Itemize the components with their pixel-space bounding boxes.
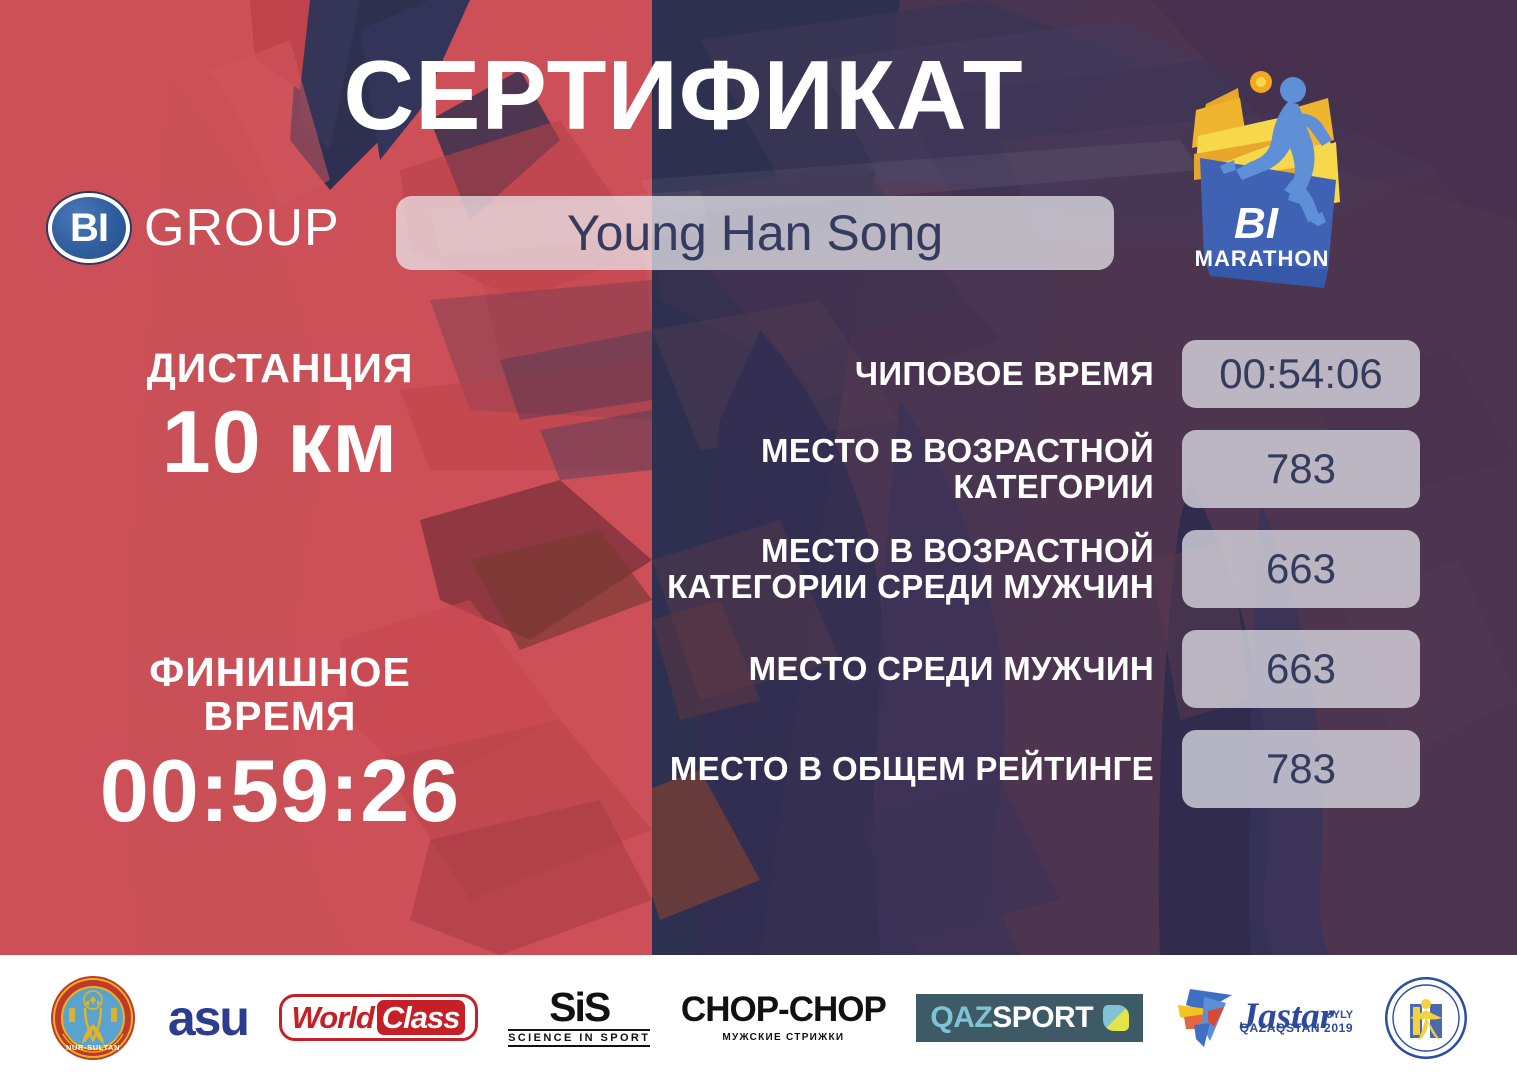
stat-row: МЕСТО В ВОЗРАСТНОЙ КАТЕГОРИИ СРЕДИ МУЖЧИ… — [560, 530, 1420, 608]
stat-value: 783 — [1182, 430, 1420, 508]
stat-row: МЕСТО В ОБЩЕМ РЕЙТИНГЕ 783 — [560, 730, 1420, 808]
participant-name: Young Han Song — [567, 208, 943, 258]
qazsport-word1: QAZ — [930, 1001, 992, 1034]
stat-value: 663 — [1182, 530, 1420, 608]
asu-logo: asu — [168, 993, 248, 1043]
sis-logo: SiS SCIENCE IN SPORT — [508, 988, 650, 1047]
ministry-sport-emblem-logo — [1384, 976, 1468, 1060]
stat-label: ЧИПОВОЕ ВРЕМЯ — [560, 356, 1182, 392]
distance-label: ДИСТАНЦИЯ — [0, 346, 560, 390]
qazsport-word2: SPORT — [992, 1001, 1093, 1034]
qazsport-logo: QAZSPORT — [916, 994, 1143, 1042]
jastar-jyly-logo: Jastar JYLY QAZAQSTAN 2019 — [1174, 983, 1354, 1053]
certificate-canvas: СЕРТИФИКАТ BI GROUP Young Han Song — [0, 0, 1517, 1080]
stat-value: 663 — [1182, 630, 1420, 708]
world-class-word2: Class — [377, 1000, 465, 1035]
stat-row: МЕСТО СРЕДИ МУЖЧИН 663 — [560, 630, 1420, 708]
stat-label: МЕСТО СРЕДИ МУЖЧИН — [560, 651, 1182, 687]
participant-name-field: Young Han Song — [396, 196, 1114, 270]
sponsor-bar: NUR-SULTAN asu World Class SiS SCIENCE I… — [0, 955, 1517, 1080]
jastar-subtitle: QAZAQSTAN 2019 — [1240, 1021, 1354, 1035]
stats-list: ЧИПОВОЕ ВРЕМЯ 00:54:06 МЕСТО В ВОЗРАСТНО… — [560, 340, 1420, 830]
jastar-jyly-label: JYLY — [1327, 1009, 1354, 1021]
chop-chop-tagline: МУЖСКИЕ СТРИЖКИ — [722, 1032, 844, 1043]
world-class-logo: World Class — [279, 994, 478, 1041]
svg-text:MARATHON: MARATHON — [1195, 246, 1330, 271]
chop-chop-wordmark: CHOP-CHOP — [681, 992, 886, 1027]
bi-group-label: GROUP — [144, 202, 340, 254]
nur-sultan-emblem-logo: NUR-SULTAN — [49, 974, 137, 1062]
qazsport-square-icon — [1103, 1005, 1129, 1031]
chop-chop-logo: CHOP-CHOP МУЖСКИЕ СТРИЖКИ — [681, 992, 886, 1043]
stat-label: МЕСТО В ВОЗРАСТНОЙ КАТЕГОРИИ — [560, 433, 1182, 506]
finish-time-label-line2: ВРЕМЯ — [0, 694, 560, 738]
stat-label: МЕСТО В ОБЩЕМ РЕЙТИНГЕ — [560, 751, 1182, 787]
distance-value: 10 км — [0, 394, 560, 489]
bi-marathon-logo: BI MARATHON — [1176, 62, 1376, 300]
stat-row: МЕСТО В ВОЗРАСТНОЙ КАТЕГОРИИ 783 — [560, 430, 1420, 508]
svg-text:BI: BI — [1234, 199, 1279, 248]
stat-label: МЕСТО В ВОЗРАСТНОЙ КАТЕГОРИИ СРЕДИ МУЖЧИ… — [560, 533, 1182, 606]
distance-block: ДИСТАНЦИЯ 10 км — [0, 346, 560, 489]
finish-time-value: 00:59:26 — [0, 743, 560, 838]
finish-time-label-line1: ФИНИШНОЕ — [0, 650, 560, 694]
stat-row: ЧИПОВОЕ ВРЕМЯ 00:54:06 — [560, 340, 1420, 408]
nur-sultan-label: NUR-SULTAN — [66, 1043, 120, 1052]
stat-value: 783 — [1182, 730, 1420, 808]
sis-tagline: SCIENCE IN SPORT — [508, 1029, 650, 1047]
bi-group-logo: BI GROUP — [48, 193, 340, 263]
sis-wordmark: SiS — [549, 988, 609, 1027]
bi-badge-label: BI — [70, 208, 108, 248]
stat-value: 00:54:06 — [1182, 340, 1420, 408]
bi-badge-icon: BI — [48, 193, 130, 263]
jastar-bird-icon — [1174, 983, 1236, 1053]
asu-wordmark: asu — [168, 993, 248, 1043]
finish-time-block: ФИНИШНОЕ ВРЕМЯ 00:59:26 — [0, 650, 560, 838]
world-class-word1: World — [292, 1002, 374, 1033]
